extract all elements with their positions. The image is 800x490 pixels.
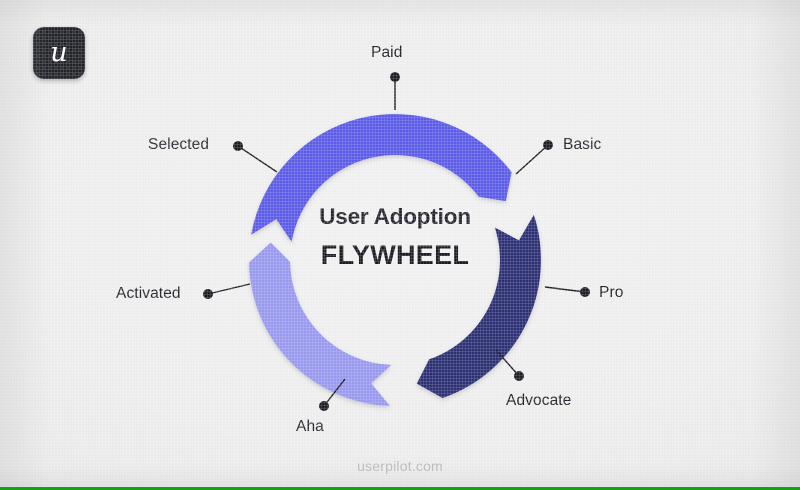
flywheel-donut-chart	[0, 0, 800, 490]
infographic-canvas: u User Adoption FLYWHEEL PaidBasicProAdv…	[0, 0, 800, 490]
leader-line-activated	[208, 284, 250, 294]
callout-label-selected[interactable]: Selected	[148, 136, 209, 154]
callout-label-aha[interactable]: Aha	[296, 418, 324, 436]
watermark-text: userpilot.com	[0, 458, 800, 474]
leader-line-basic	[516, 145, 548, 174]
callout-label-pro[interactable]: Pro	[599, 284, 623, 302]
donut-segment-top-arc[interactable]	[251, 114, 511, 242]
leader-dot-selected	[233, 141, 243, 151]
callout-label-paid[interactable]: Paid	[371, 44, 402, 62]
leader-dot-pro	[580, 287, 590, 297]
leader-line-pro	[545, 287, 585, 292]
callout-label-advocate[interactable]: Advocate	[506, 392, 571, 410]
leader-line-selected	[238, 146, 277, 172]
leader-dot-activated	[203, 289, 213, 299]
leader-line-advocate	[496, 350, 519, 376]
donut-segment-right-arc[interactable]	[417, 215, 541, 398]
donut-segments	[249, 114, 541, 406]
donut-segment-left-arc[interactable]	[249, 243, 391, 406]
callout-label-activated[interactable]: Activated	[116, 285, 181, 303]
leader-dot-advocate	[514, 371, 524, 381]
callout-label-basic[interactable]: Basic	[563, 136, 601, 154]
leader-dot-paid	[390, 72, 400, 82]
leader-dot-basic	[543, 140, 553, 150]
leader-dot-aha	[319, 401, 329, 411]
